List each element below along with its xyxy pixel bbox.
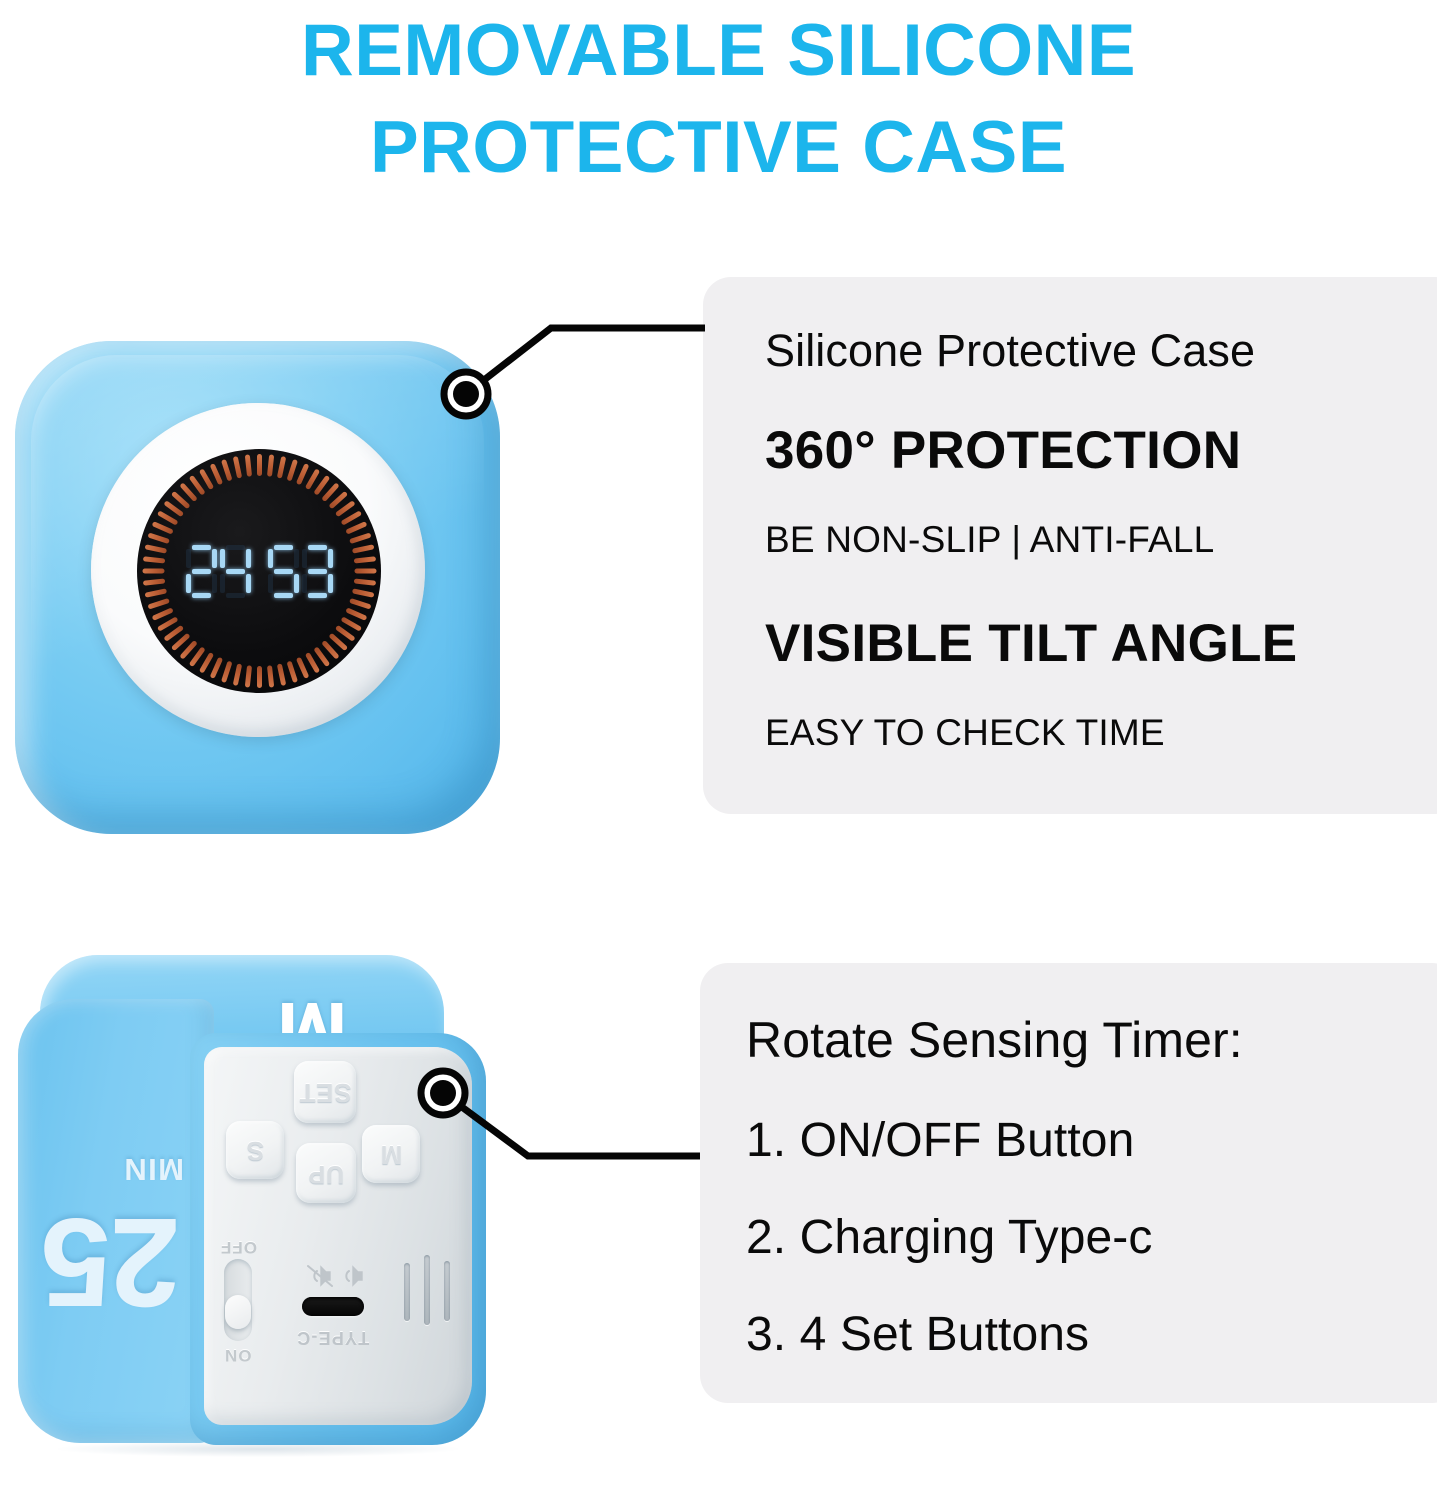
lcd-segment-d	[308, 593, 327, 598]
up-button[interactable]: UP	[296, 1143, 356, 1203]
product-image-timer-front	[15, 341, 500, 834]
product-image-timer-rear: M Customize 25 MIN SET S M UP OF	[18, 955, 488, 1455]
sound-mute-icons	[304, 1263, 368, 1289]
product-infographic: REMOVABLE SILICONE PROTECTIVE CASE	[0, 0, 1437, 1500]
sound-icon-group	[304, 1263, 368, 1289]
callout-2-item-3: 3. 4 Set Buttons	[746, 1307, 1437, 1362]
lcd-seconds-digit-1	[268, 545, 299, 598]
set-button-label: SET	[299, 1077, 351, 1108]
page-title-line-2: PROTECTIVE CASE	[0, 99, 1437, 196]
lcd-segment-d	[274, 593, 293, 598]
callout-2-item-1: 1. ON/OFF Button	[746, 1113, 1437, 1168]
lcd-segment-d	[192, 593, 211, 598]
type-c-port-label: TYPE-C	[296, 1327, 369, 1348]
callout-2-item-2: 2. Charging Type-c	[746, 1210, 1437, 1265]
lcd-minutes-digit-2	[220, 545, 251, 598]
timer-display-face	[137, 449, 381, 693]
lcd-segment-c	[328, 574, 333, 593]
lcd-seconds-digit-2	[302, 545, 333, 598]
cube-left-minutes-number: 25	[42, 1199, 180, 1325]
lcd-segment-c	[294, 574, 299, 593]
lcd-segment-g	[226, 569, 245, 574]
page-title-line-1: REMOVABLE SILICONE	[0, 2, 1437, 99]
lcd-segment-a	[274, 545, 293, 550]
cube-left-face-labels: 25 MIN	[18, 999, 214, 1443]
callout-rotate-sensing-timer: Rotate Sensing Timer: 1. ON/OFF Button 2…	[700, 963, 1437, 1403]
power-switch-off-label: OFF	[220, 1237, 257, 1257]
speaker-slot	[444, 1261, 450, 1321]
s-button-label: S	[246, 1135, 264, 1166]
speaker-slots	[400, 1253, 456, 1329]
lcd-segment-b	[294, 549, 299, 568]
lcd-segment-f	[220, 549, 225, 568]
callout-1-feature-2-title: VISIBLE TILT ANGLE	[765, 613, 1437, 674]
lcd-segment-a	[308, 545, 327, 550]
up-button-label: UP	[308, 1159, 344, 1188]
lcd-segment-e	[220, 574, 225, 593]
lcd-segment-b	[328, 549, 333, 568]
cube-left-minutes-unit: MIN	[123, 1154, 184, 1185]
speaker-slot	[424, 1255, 430, 1325]
timer-lcd	[137, 449, 381, 693]
lcd-segment-a	[192, 545, 211, 550]
lcd-segment-d	[226, 593, 245, 598]
lcd-segment-f	[302, 549, 307, 568]
m-button[interactable]: M	[362, 1125, 420, 1183]
power-switch-knob[interactable]	[225, 1295, 251, 1329]
lcd-segment-c	[212, 574, 217, 593]
lcd-segment-g	[274, 569, 293, 574]
lcd-segment-g	[192, 569, 211, 574]
lcd-segment-e	[186, 574, 191, 593]
lcd-segment-c	[246, 574, 251, 593]
m-button-label: M	[380, 1139, 402, 1170]
speaker-slot	[404, 1263, 410, 1321]
callout-2-heading: Rotate Sensing Timer:	[746, 1011, 1437, 1069]
callout-silicone-case: Silicone Protective Case 360° PROTECTION…	[703, 277, 1437, 814]
lcd-minutes	[186, 545, 251, 598]
callout-1-feature-2-sub: EASY TO CHECK TIME	[765, 712, 1437, 754]
cube-left-face: 25 MIN	[18, 999, 214, 1443]
power-switch-on-label: ON	[224, 1345, 252, 1365]
lcd-segment-f	[186, 549, 191, 568]
s-button[interactable]: S	[226, 1121, 284, 1179]
lcd-segment-g	[308, 569, 327, 574]
callout-1-feature-1-sub: BE NON-SLIP | ANTI-FALL	[765, 519, 1437, 561]
leader-line-1	[466, 328, 705, 394]
page-title: REMOVABLE SILICONE PROTECTIVE CASE	[0, 2, 1437, 196]
set-button[interactable]: SET	[294, 1061, 356, 1123]
lcd-segment-e	[302, 574, 307, 593]
callout-1-heading: Silicone Protective Case	[765, 325, 1437, 377]
lcd-segment-a	[226, 545, 245, 550]
lcd-minutes-digit-1	[186, 545, 217, 598]
lcd-segment-f	[268, 549, 273, 568]
power-switch[interactable]	[224, 1259, 252, 1341]
lcd-segment-b	[212, 549, 217, 568]
lcd-segment-e	[268, 574, 273, 593]
lcd-segment-b	[246, 549, 251, 568]
callout-1-feature-1-title: 360° PROTECTION	[765, 420, 1437, 481]
rear-control-panel: SET S M UP OFF ON	[204, 1047, 472, 1425]
type-c-port	[302, 1297, 364, 1316]
lcd-seconds	[268, 545, 333, 598]
